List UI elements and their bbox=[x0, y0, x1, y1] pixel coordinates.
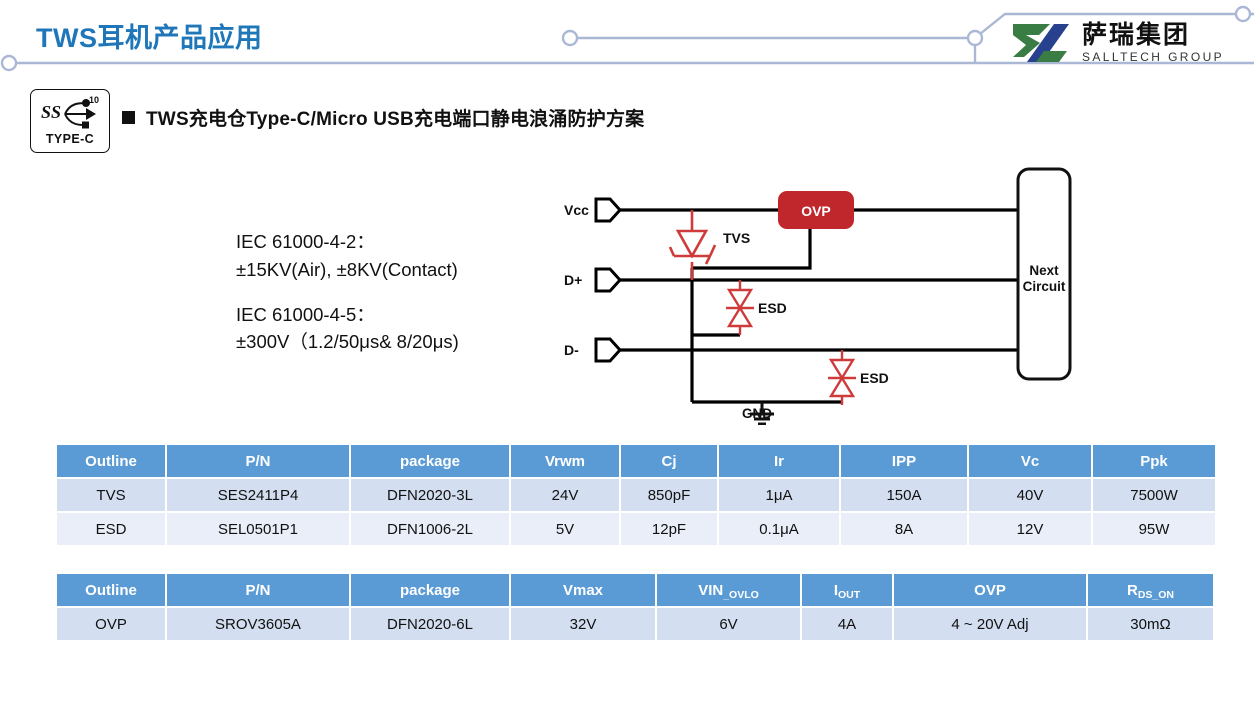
col-header: IPP bbox=[841, 445, 967, 477]
col-header: RDS_ON bbox=[1088, 574, 1213, 606]
section-subtitle-text: TWS充电仓Type-C/Micro USB充电端口静电浪涌防护方案 bbox=[146, 104, 644, 131]
square-bullet-icon bbox=[122, 111, 135, 124]
col-header: Vrwm bbox=[511, 445, 619, 477]
col-header: VIN_OVLO bbox=[657, 574, 800, 606]
cell: 12V bbox=[969, 513, 1091, 545]
col-header: P/N bbox=[167, 445, 349, 477]
col-header: package bbox=[351, 445, 509, 477]
cell: SROV3605A bbox=[167, 608, 349, 640]
esd-diode-1-symbol bbox=[726, 280, 754, 335]
col-header: Ppk bbox=[1093, 445, 1215, 477]
type-c-label: TYPE-C bbox=[46, 132, 94, 146]
cell: 0.1μA bbox=[719, 513, 839, 545]
cell: DFN2020-3L bbox=[351, 479, 509, 511]
cell: 12pF bbox=[621, 513, 717, 545]
cell: SES2411P4 bbox=[167, 479, 349, 511]
spec-line-1: IEC 61000-4-2： bbox=[236, 228, 459, 256]
cell: 8A bbox=[841, 513, 967, 545]
esd-label-2: ESD bbox=[860, 370, 889, 386]
logo-name-cn: 萨瑞集团 bbox=[1082, 23, 1224, 48]
page-title: TWS耳机产品应用 bbox=[36, 16, 263, 55]
section-subtitle: TWS充电仓Type-C/Micro USB充电端口静电浪涌防护方案 bbox=[122, 104, 644, 131]
cell: DFN2020-6L bbox=[351, 608, 509, 640]
gnd-label: GND bbox=[742, 406, 772, 421]
logo-name-en: SALLTECH GROUP bbox=[1082, 51, 1224, 63]
spec-line-2: ±15KV(Air), ±8KV(Contact) bbox=[236, 256, 459, 284]
col-header: Vc bbox=[969, 445, 1091, 477]
col-header: Ir bbox=[719, 445, 839, 477]
ovp-spec-table: Outline P/N package Vmax VIN_OVLO IOUT O… bbox=[55, 572, 1215, 642]
port-label-dminus: D- bbox=[564, 342, 579, 358]
cell: 24V bbox=[511, 479, 619, 511]
cell: 4A bbox=[802, 608, 892, 640]
cell: 30mΩ bbox=[1088, 608, 1213, 640]
col-header: Cj bbox=[621, 445, 717, 477]
protection-circuit-diagram: Vcc D+ D- TVS OVP ESD bbox=[540, 165, 1100, 425]
table-row: TVS SES2411P4 DFN2020-3L 24V 850pF 1μA 1… bbox=[57, 479, 1215, 511]
col-header: Outline bbox=[57, 445, 165, 477]
cell: 40V bbox=[969, 479, 1091, 511]
cell: TVS bbox=[57, 479, 165, 511]
cell: 6V bbox=[657, 608, 800, 640]
cell: SEL0501P1 bbox=[167, 513, 349, 545]
cell: 4 ~ 20V Adj bbox=[894, 608, 1086, 640]
cell: 7500W bbox=[1093, 479, 1215, 511]
usb-superspeed-icon: SS 10 bbox=[39, 96, 101, 130]
type-c-badge: SS 10 TYPE-C bbox=[30, 89, 110, 153]
cell: 32V bbox=[511, 608, 655, 640]
cell: OVP bbox=[57, 608, 165, 640]
spec-line-4: ±300V（1.2/50μs& 8/20μs) bbox=[236, 328, 459, 356]
cell: 95W bbox=[1093, 513, 1215, 545]
cell: 850pF bbox=[621, 479, 717, 511]
port-label-dplus: D+ bbox=[564, 272, 582, 288]
spec-line-3: IEC 61000-4-5： bbox=[236, 301, 459, 329]
iec-spec-block: IEC 61000-4-2： ±15KV(Air), ±8KV(Contact)… bbox=[236, 228, 459, 356]
svg-text:SS: SS bbox=[41, 102, 61, 122]
esd-label-1: ESD bbox=[758, 300, 787, 316]
col-header: Outline bbox=[57, 574, 165, 606]
col-header: Vmax bbox=[511, 574, 655, 606]
esd-diode-2-symbol bbox=[828, 350, 856, 405]
deco-circle-left bbox=[2, 56, 16, 70]
svg-text:10: 10 bbox=[89, 96, 99, 105]
cell: ESD bbox=[57, 513, 165, 545]
deco-circle-mid bbox=[563, 31, 577, 45]
deco-circle-right bbox=[968, 31, 982, 45]
cell: 150A bbox=[841, 479, 967, 511]
port-connector-dplus bbox=[596, 269, 620, 291]
table-header-row: Outline P/N package Vmax VIN_OVLO IOUT O… bbox=[57, 574, 1213, 606]
next-circuit-line1: Next bbox=[1029, 263, 1059, 278]
cell: 5V bbox=[511, 513, 619, 545]
port-label-vcc: Vcc bbox=[564, 202, 589, 218]
cell: 1μA bbox=[719, 479, 839, 511]
brand-logo: 萨瑞集团 SALLTECH GROUP bbox=[1010, 14, 1248, 72]
col-header: IOUT bbox=[802, 574, 892, 606]
slide-page: TWS耳机产品应用 萨瑞集团 SALLTECH GROUP SS 10 TYPE… bbox=[0, 0, 1254, 703]
tvs-label: TVS bbox=[723, 230, 750, 246]
port-connector-vcc bbox=[596, 199, 620, 221]
table-row: ESD SEL0501P1 DFN1006-2L 5V 12pF 0.1μA 8… bbox=[57, 513, 1215, 545]
col-header: package bbox=[351, 574, 509, 606]
cell: DFN1006-2L bbox=[351, 513, 509, 545]
table-header-row: Outline P/N package Vrwm Cj Ir IPP Vc Pp… bbox=[57, 445, 1215, 477]
next-circuit-line2: Circuit bbox=[1023, 279, 1066, 294]
ovp-block-label: OVP bbox=[801, 203, 831, 219]
table-row: OVP SROV3605A DFN2020-6L 32V 6V 4A 4 ~ 2… bbox=[57, 608, 1213, 640]
port-connector-dminus bbox=[596, 339, 620, 361]
tvs-esd-spec-table: Outline P/N package Vrwm Cj Ir IPP Vc Pp… bbox=[55, 443, 1217, 547]
salltech-logo-icon bbox=[1010, 21, 1072, 65]
col-header: P/N bbox=[167, 574, 349, 606]
col-header: OVP bbox=[894, 574, 1086, 606]
